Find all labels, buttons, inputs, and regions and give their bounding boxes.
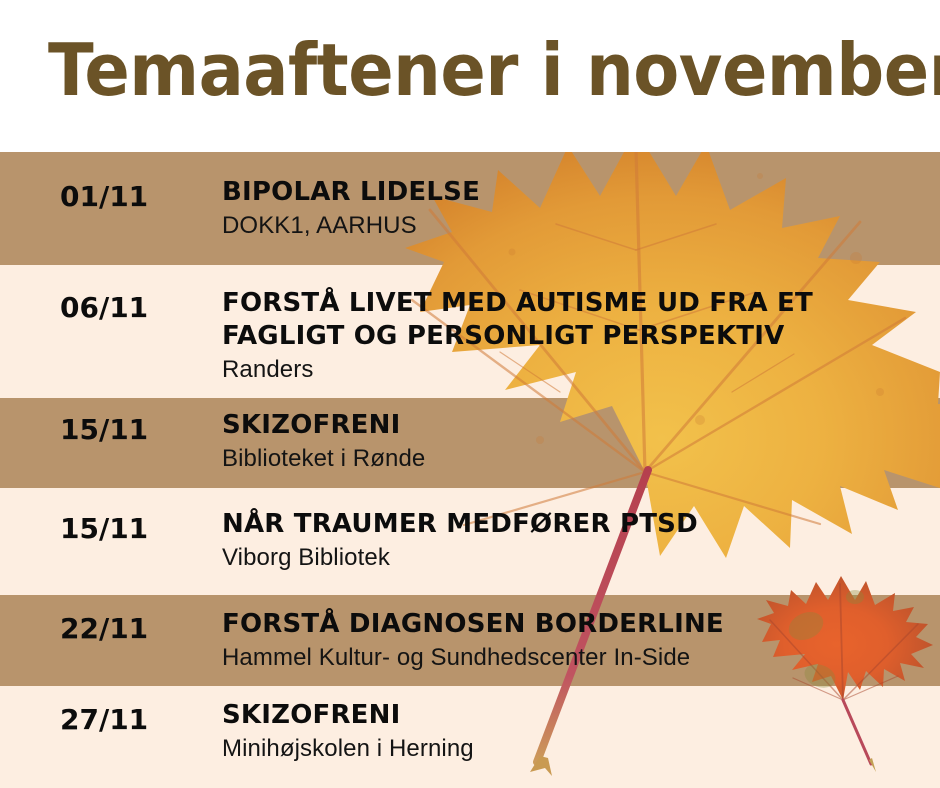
- event-title: NÅR TRAUMER MEDFØRER PTSD: [222, 508, 930, 541]
- event-title: BIPOLAR LIDELSE: [222, 176, 930, 209]
- list-item[interactable]: 27/11 SKIZOFRENI Minihøjskolen i Herning: [0, 686, 940, 788]
- event-location: Hammel Kultur- og Sundhedscenter In-Side: [222, 643, 930, 673]
- list-item[interactable]: 01/11 BIPOLAR LIDELSE DOKK1, AARHUS: [0, 152, 940, 265]
- event-body: BIPOLAR LIDELSE DOKK1, AARHUS: [222, 176, 930, 241]
- event-body: SKIZOFRENI Minihøjskolen i Herning: [222, 699, 930, 764]
- list-item[interactable]: 15/11 NÅR TRAUMER MEDFØRER PTSD Viborg B…: [0, 488, 940, 595]
- event-body: FORSTÅ DIAGNOSEN BORDERLINE Hammel Kultu…: [222, 608, 930, 673]
- page-title: Temaaftener i november: [48, 28, 940, 112]
- event-body: FORSTÅ LIVET MED AUTISME UD FRA ET FAGLI…: [222, 287, 930, 385]
- event-date: 15/11: [60, 512, 148, 546]
- list-item[interactable]: 22/11 FORSTÅ DIAGNOSEN BORDERLINE Hammel…: [0, 595, 940, 686]
- poster-header: Temaaftener i november: [0, 0, 940, 152]
- event-title: FORSTÅ DIAGNOSEN BORDERLINE: [222, 608, 930, 641]
- event-location: Viborg Bibliotek: [222, 543, 930, 573]
- event-title: FORSTÅ LIVET MED AUTISME UD FRA ET FAGLI…: [222, 287, 930, 353]
- event-body: NÅR TRAUMER MEDFØRER PTSD Viborg Bibliot…: [222, 508, 930, 573]
- poster-canvas: Temaaftener i november 01/11 BIPOLAR LID…: [0, 0, 940, 788]
- event-date: 27/11: [60, 703, 148, 737]
- list-item[interactable]: 06/11 FORSTÅ LIVET MED AUTISME UD FRA ET…: [0, 265, 940, 398]
- list-item[interactable]: 15/11 SKIZOFRENI Biblioteket i Rønde: [0, 398, 940, 488]
- event-location: Minihøjskolen i Herning: [222, 734, 930, 764]
- event-body: SKIZOFRENI Biblioteket i Rønde: [222, 409, 930, 474]
- event-date: 22/11: [60, 612, 148, 646]
- event-date: 01/11: [60, 180, 148, 214]
- event-location: Biblioteket i Rønde: [222, 444, 930, 474]
- event-date: 15/11: [60, 413, 148, 447]
- event-title: SKIZOFRENI: [222, 699, 930, 732]
- event-location: DOKK1, AARHUS: [222, 211, 930, 241]
- event-location: Randers: [222, 355, 930, 385]
- event-title: SKIZOFRENI: [222, 409, 930, 442]
- event-date: 06/11: [60, 291, 148, 325]
